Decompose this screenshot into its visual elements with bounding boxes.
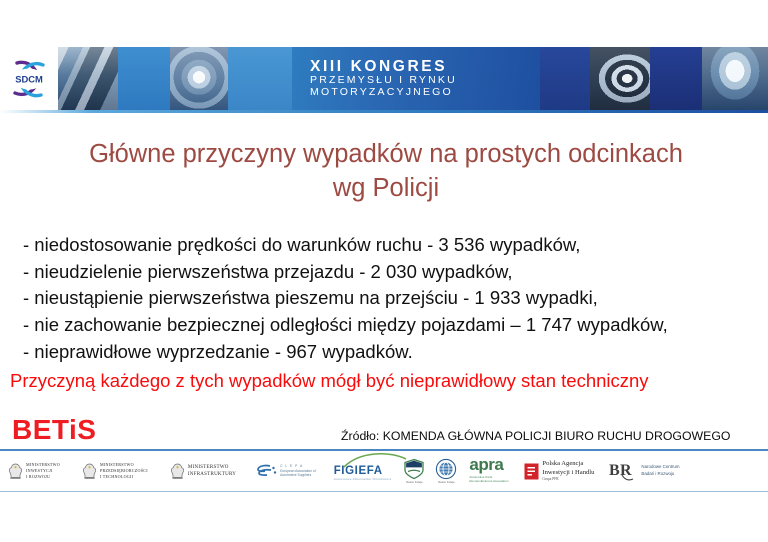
congress-title-line1: XIII KONGRES: [310, 58, 457, 75]
svg-text:B: B: [609, 462, 620, 479]
banner-navy-block-1: [540, 47, 590, 110]
paih-line-1: Polska Agencja: [542, 460, 594, 469]
paih-line-3: Grupa PFR: [542, 477, 594, 482]
ministry-line-3: I ROZWOJU: [26, 474, 60, 480]
logo-polska-agencja-inwestycji-i-handlu: Polska Agencja Inwestycji i Handlu Grupa…: [524, 452, 594, 490]
clepa-sub-2: Automotive Suppliers: [280, 473, 316, 478]
globe-caption: Nasze Koleje: [438, 481, 454, 485]
polish-eagle-icon: [170, 462, 185, 481]
logo-clepa: C L E P A European Association of Automo…: [256, 452, 316, 490]
figiefa-title: FIGIEFA: [334, 466, 392, 478]
banner-blue-block-2: [228, 47, 292, 110]
globe-icon: [435, 458, 457, 480]
list-item: - niedostosowanie prędkości do warunków …: [23, 232, 753, 259]
technical-condition-note: Przyczyną każdego z tych wypadków mógł b…: [10, 370, 762, 392]
betis-logo: BETiS: [12, 414, 96, 446]
logo-ministerstwo-infrastruktury: MINISTERSTWO INFRASTRUKTURY: [170, 452, 236, 490]
logo-narodowe-centrum-badan-i-rozwoju: B R Narodowe Centrum Badań i Rozwoju: [608, 452, 679, 490]
shield-caption: Nasze Koleje: [406, 481, 422, 485]
list-item: - nieprawidłowe wyprzedzanie - 967 wypad…: [23, 339, 753, 366]
ministry-line-2: INFRASTRUKTURY: [188, 471, 236, 478]
accident-causes-list: - niedostosowanie prędkości do warunków …: [23, 232, 753, 365]
polish-eagle-icon: [82, 462, 97, 481]
banner-navy-block-2: [650, 47, 702, 110]
polish-eagle-icon: [8, 462, 23, 481]
footer-divider-bottom: [0, 491, 768, 492]
paih-line-2: Inwestycji i Handlu: [542, 469, 594, 478]
page-title: Główne przyczyny wypadków na prostych od…: [36, 138, 736, 206]
banner-blue-block-1: [118, 47, 170, 110]
banner-underline: [0, 110, 768, 113]
ncbr-monogram-icon: B R: [608, 460, 638, 482]
ncbr-line-1: Narodowe Centrum: [641, 464, 679, 471]
congress-title-line3: MOTORYZACYJNEGO: [310, 87, 457, 99]
source-attribution: Źródło: KOMENDA GŁÓWNA POLICJI BIURO RUC…: [341, 429, 730, 443]
list-item: - nieudzielenie pierwszeństwa przejazdu …: [23, 259, 753, 286]
congress-title-block: XIII KONGRES PRZEMYSŁU I RYNKU MOTORYZAC…: [292, 47, 540, 110]
banner-photo-belt: [590, 47, 650, 110]
banner-photo-radiator-cap: [702, 47, 768, 110]
logo-globe-emblem: Nasze Koleje: [435, 452, 457, 490]
sdcm-logo-icon: SDCM: [3, 57, 55, 101]
figiefa-subtitle: Automotive Aftermarket Distributors: [334, 477, 392, 481]
apra-sub-2: Remanufacturers Association: [469, 479, 508, 483]
logo-apra: apra Automotive Parts Remanufacturers As…: [469, 452, 508, 490]
congress-banner: SDCM XIII KONGRES PRZEMYSŁU I RYNKU MOTO…: [0, 47, 768, 110]
page-title-line1: Główne przyczyny wypadków na prostych od…: [36, 138, 736, 172]
logo-ministerstwo-przedsiebiorczosci-i-technologii: MINISTERSTWO PRZEDSIĘBIORCZOŚCI I TECHNO…: [82, 452, 148, 490]
banner-photo-clutch: [170, 47, 228, 110]
clepa-mark-icon: [256, 463, 278, 479]
ncbr-line-2: Badań i Rozwoju: [641, 471, 679, 478]
apra-title: apra: [469, 458, 508, 472]
paih-mark-icon: [524, 463, 539, 480]
ministry-line-3: I TECHNOLOGII: [100, 474, 148, 480]
sdcm-logo-cell: SDCM: [0, 47, 58, 110]
logo-ministerstwo-inwestycji-i-rozwoju: MINISTERSTWO INWESTYCJI I ROZWOJU: [8, 452, 60, 490]
svg-text:SDCM: SDCM: [15, 73, 43, 84]
partner-logo-bar: MINISTERSTWO INWESTYCJI I ROZWOJU MINIST…: [0, 452, 768, 490]
page-title-line2: wg Policji: [36, 172, 736, 206]
list-item: - nieustąpienie pierwszeństwa pieszemu n…: [23, 285, 753, 312]
ministry-line-1: MINISTERSTWO: [188, 464, 236, 471]
list-item: - nie zachowanie bezpiecznej odległości …: [23, 312, 753, 339]
logo-figiefa: FIGIEFA Automotive Aftermarket Distribut…: [334, 452, 392, 490]
svg-text:R: R: [620, 462, 632, 479]
banner-photo-engine: [58, 47, 118, 110]
